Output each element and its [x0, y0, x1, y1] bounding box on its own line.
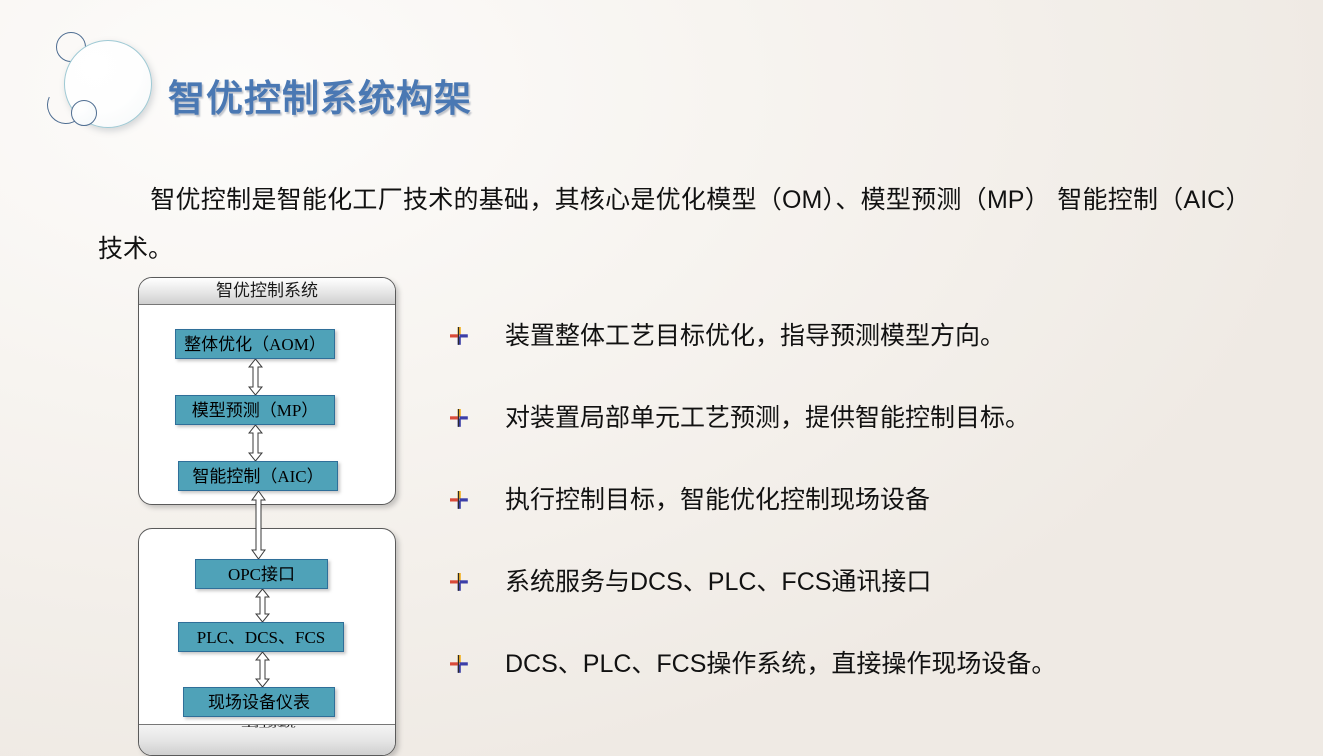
list-item-label: DCS、PLC、FCS操作系统，直接操作现场设备。 — [505, 642, 1056, 686]
list-item: 执行控制目标，智能优化控制现场设备 — [443, 476, 1283, 558]
intro-paragraph: 智优控制是智能化工厂技术的基础，其核心是优化模型（OM）、模型预测（MP） 智能… — [98, 176, 1238, 274]
arrow-aic-opc-icon — [251, 491, 266, 559]
group-bottom-footer-label: 工控系统 — [241, 724, 293, 731]
intro-text: 智优控制是智能化工厂技术的基础，其核心是优化模型（OM）、模型预测（MP） 智能… — [98, 186, 1238, 263]
page-title: 智优控制系统构架 — [168, 68, 472, 122]
group-top-header: 智优控制系统 — [139, 278, 395, 305]
node-intelligent-control: 智能控制（AIC） — [178, 461, 338, 491]
arrow-mp-aic-icon — [248, 425, 263, 461]
pinwheel-bullet-icon — [449, 654, 469, 674]
node-plc-dcs-fcs: PLC、DCS、FCS — [178, 622, 344, 652]
slide-canvas: 智优控制系统构架 智优控制是智能化工厂技术的基础，其核心是优化模型（OM）、模型… — [0, 0, 1323, 756]
node-field-device-instrument: 现场设备仪表 — [183, 687, 335, 717]
pinwheel-bullet-icon — [449, 572, 469, 592]
list-item-label: 对装置局部单元工艺预测，提供智能控制目标。 — [505, 396, 1030, 440]
pinwheel-bullet-icon — [449, 408, 469, 428]
node-model-prediction: 模型预测（MP） — [175, 395, 335, 425]
arrow-opc-plc-icon — [255, 589, 270, 622]
pinwheel-bullet-icon — [449, 490, 469, 510]
small-circle-bottom-icon — [71, 100, 97, 126]
title-decoration — [44, 22, 184, 140]
pinwheel-bullet-icon — [449, 326, 469, 346]
architecture-diagram: 智优控制系统 工控系统 整体优化（AOM） 模型预测（MP） 智能控制（AIC）… — [138, 277, 396, 756]
list-item: 装置整体工艺目标优化，指导预测模型方向。 — [443, 312, 1283, 394]
bullet-list: 装置整体工艺目标优化，指导预测模型方向。 对装置局部单元工艺预测，提供智能控制目… — [443, 312, 1283, 722]
list-item: DCS、PLC、FCS操作系统，直接操作现场设备。 — [443, 640, 1283, 722]
list-item: 对装置局部单元工艺预测，提供智能控制目标。 — [443, 394, 1283, 476]
list-item-label: 执行控制目标，智能优化控制现场设备 — [505, 478, 930, 522]
group-bottom-footer: 工控系统 — [139, 724, 395, 755]
node-overall-optimization: 整体优化（AOM） — [175, 329, 335, 359]
node-opc-interface: OPC接口 — [195, 559, 328, 589]
list-item: 系统服务与DCS、PLC、FCS通讯接口 — [443, 558, 1283, 640]
list-item-label: 系统服务与DCS、PLC、FCS通讯接口 — [505, 560, 931, 604]
arrow-aom-mp-icon — [248, 359, 263, 395]
arrow-plc-device-icon — [255, 652, 270, 687]
list-item-label: 装置整体工艺目标优化，指导预测模型方向。 — [505, 314, 1005, 358]
